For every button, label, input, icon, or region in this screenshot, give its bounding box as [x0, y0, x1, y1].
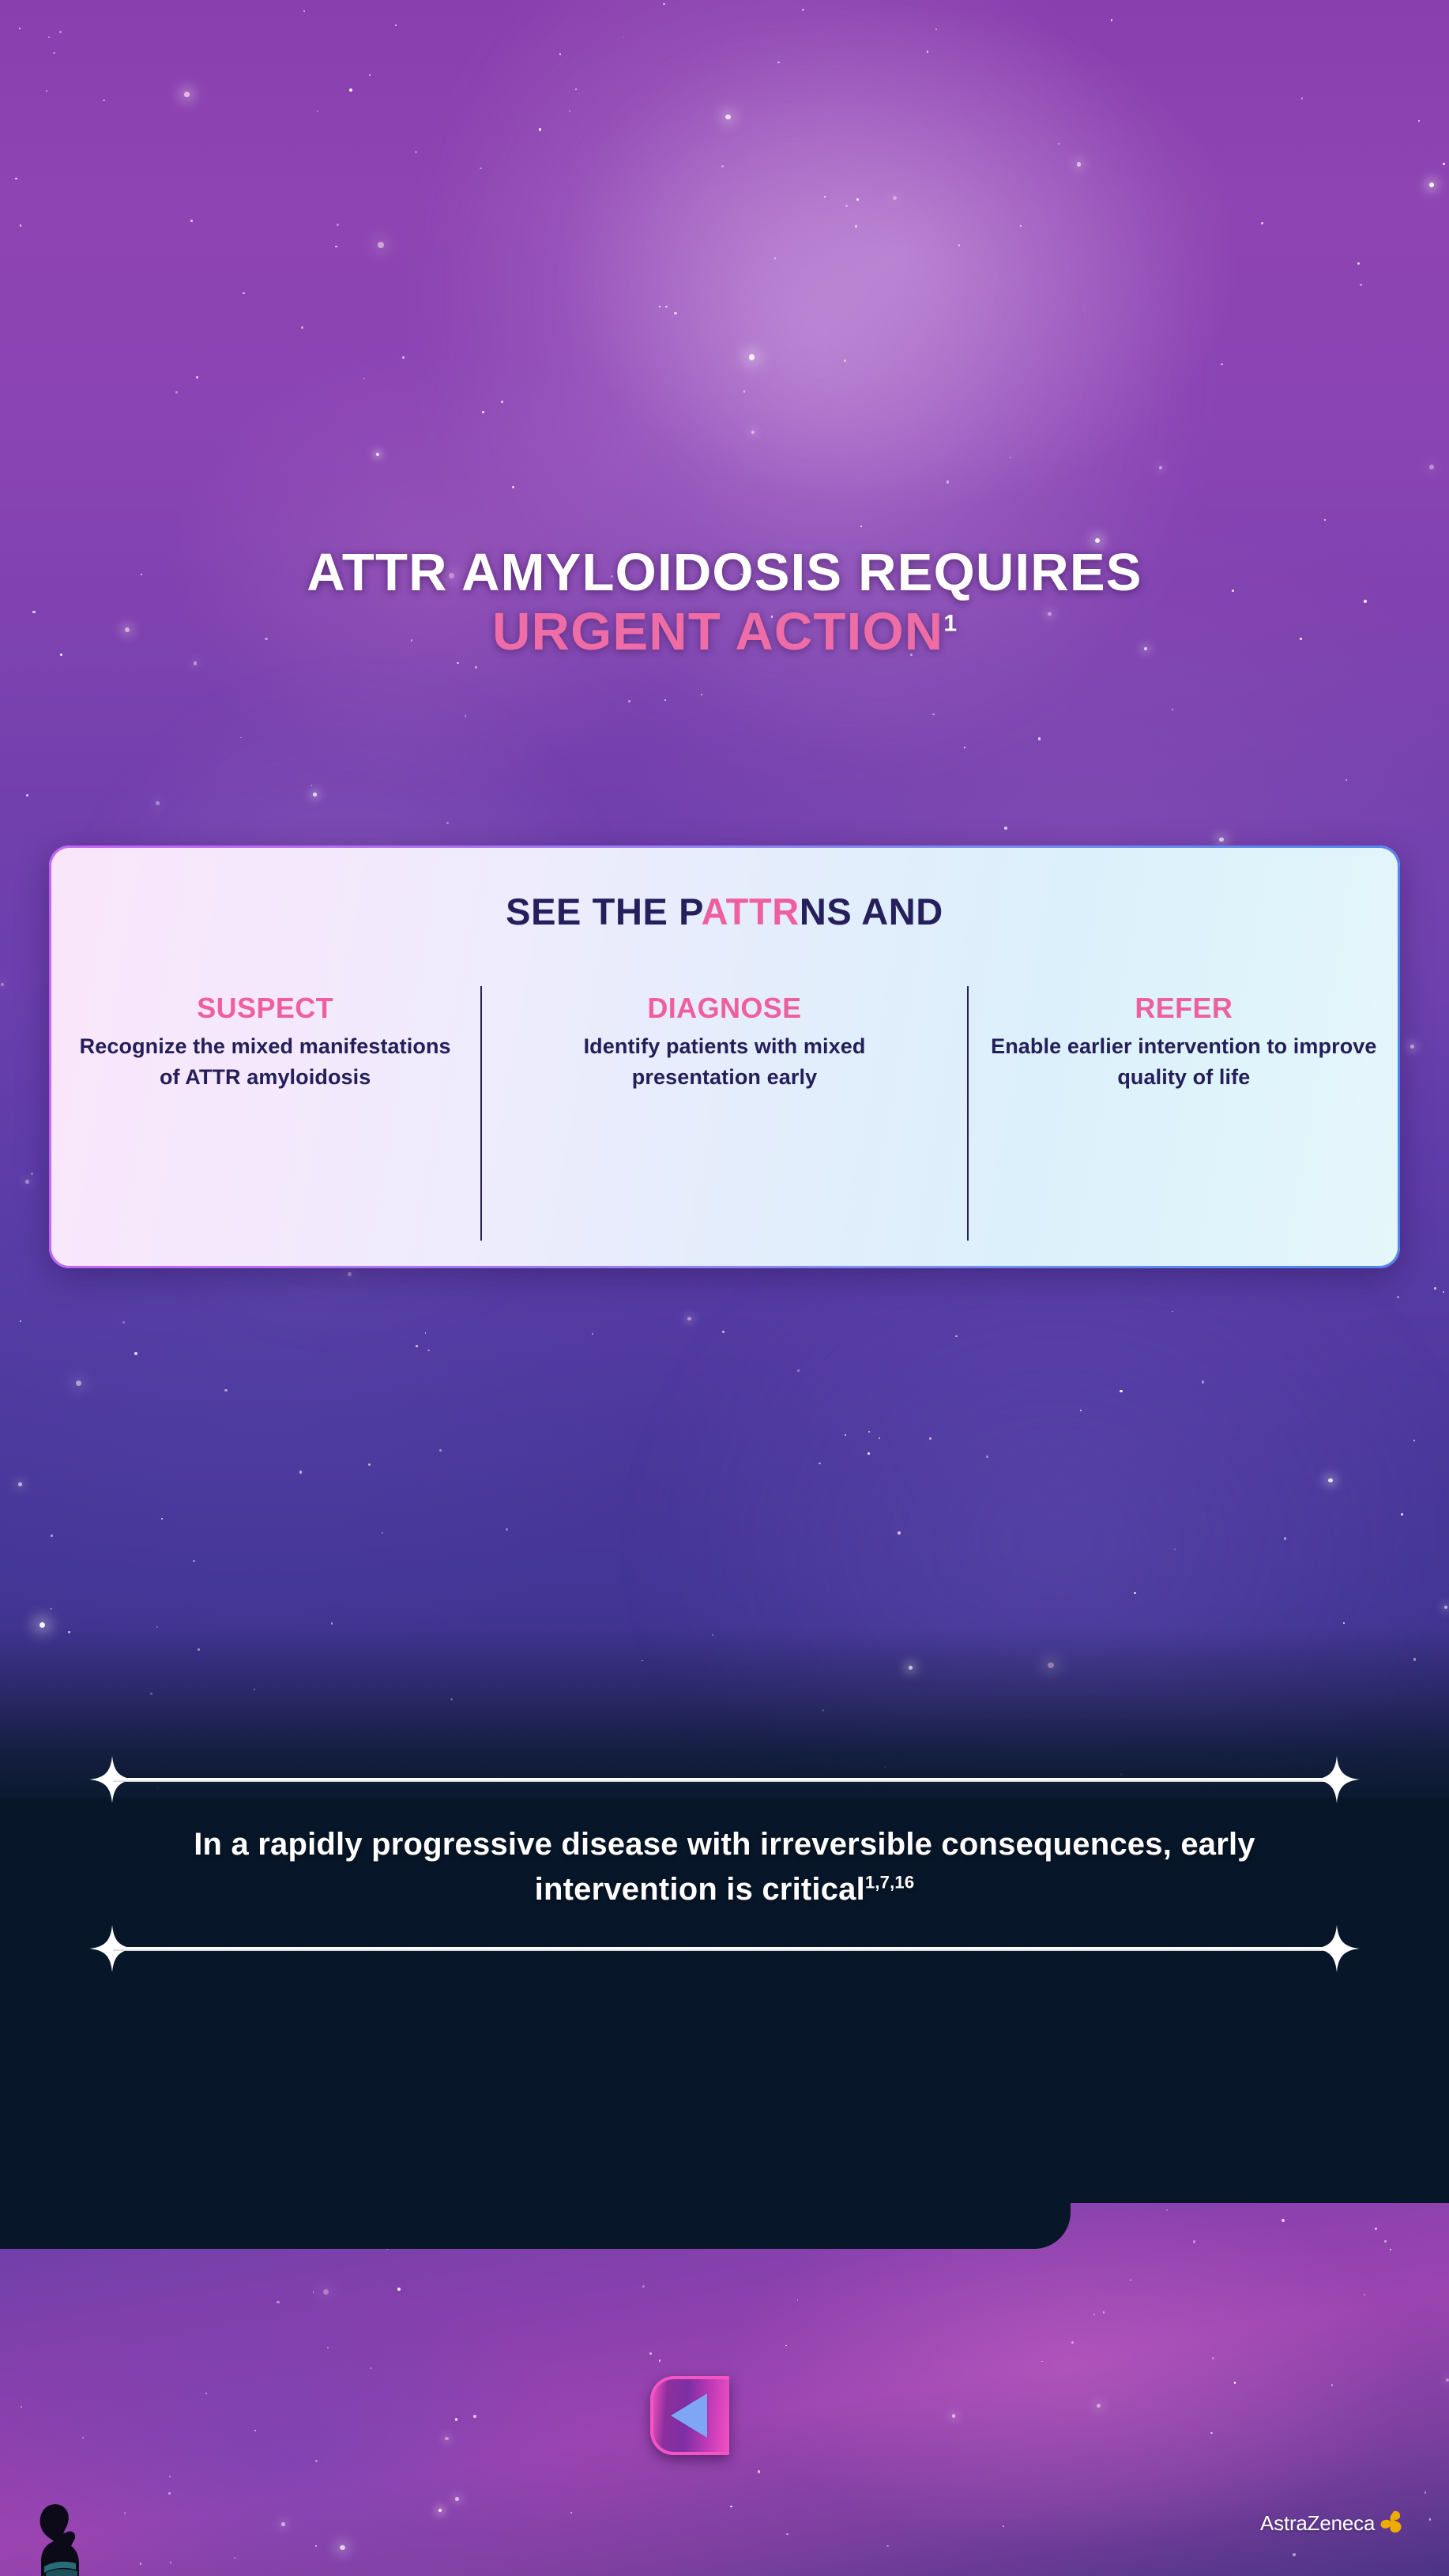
column-diagnose-body: Identify patients with mixed presentatio… — [529, 1031, 920, 1093]
column-diagnose-title: DIAGNOSE — [529, 992, 920, 1025]
card-columns: SUSPECT Recognize the mixed manifestatio… — [49, 992, 1400, 1268]
column-suspect: SUSPECT Recognize the mixed manifestatio… — [49, 992, 481, 1268]
sparkle-icon — [1312, 1923, 1361, 1974]
notch-right-block — [1071, 2189, 1449, 2203]
astrazeneca-logo: AstraZeneca — [1260, 2505, 1418, 2541]
headline-line-1: ATTR AMYLOIDOSIS REQUIRES — [0, 545, 1449, 601]
column-refer-body: Enable earlier intervention to improve q… — [988, 1031, 1379, 1093]
card-title-pre: SEE THE P — [506, 891, 701, 932]
column-refer-title: REFER — [988, 992, 1379, 1025]
banner-rule-bottom — [99, 1939, 1350, 1958]
dark-section-notch — [0, 2189, 1449, 2292]
card-title-post: NS AND — [800, 891, 943, 932]
person-silhouette — [0, 2473, 182, 2576]
headline-superscript: 1 — [943, 610, 957, 636]
infographic-slide: ATTR AMYLOIDOSIS REQUIRES URGENT ACTION1… — [0, 0, 1449, 2576]
headline-line-2-text: URGENT ACTION — [492, 602, 943, 661]
column-diagnose: DIAGNOSE Identify patients with mixed pr… — [481, 992, 967, 1268]
banner-rule-bottom-bar — [113, 1947, 1336, 1951]
column-suspect-body: Recognize the mixed manifestations of AT… — [70, 1031, 461, 1093]
column-suspect-title: SUSPECT — [70, 992, 461, 1025]
sparkle-icon — [1312, 1754, 1361, 1805]
banner-superscript: 1,7,16 — [865, 1872, 914, 1892]
headline-line-2: URGENT ACTION1 — [0, 601, 1449, 663]
pattrns-card: SEE THE PATTRNS AND SUSPECT Recognize th… — [49, 845, 1400, 1268]
column-refer: REFER Enable earlier intervention to imp… — [968, 992, 1400, 1268]
key-message-banner: In a rapidly progressive disease with ir… — [0, 1770, 1449, 1958]
astrazeneca-wordmark: AstraZeneca — [1260, 2511, 1375, 2536]
triangle-left-icon — [671, 2393, 707, 2438]
headline: ATTR AMYLOIDOSIS REQUIRES URGENT ACTION1 — [0, 545, 1449, 663]
notch-left-block — [0, 2189, 1071, 2249]
banner-text: In a rapidly progressive disease with ir… — [0, 1789, 1449, 1939]
card-title-accent: ATTR — [702, 891, 800, 932]
banner-rule-top-bar — [113, 1778, 1336, 1782]
previous-button[interactable] — [650, 2376, 729, 2455]
card-title: SEE THE PATTRNS AND — [49, 890, 1400, 933]
banner-text-main: In a rapidly progressive disease with ir… — [194, 1827, 1255, 1907]
astrazeneca-ribbon-icon — [1378, 2510, 1405, 2536]
banner-rule-top — [99, 1770, 1350, 1789]
